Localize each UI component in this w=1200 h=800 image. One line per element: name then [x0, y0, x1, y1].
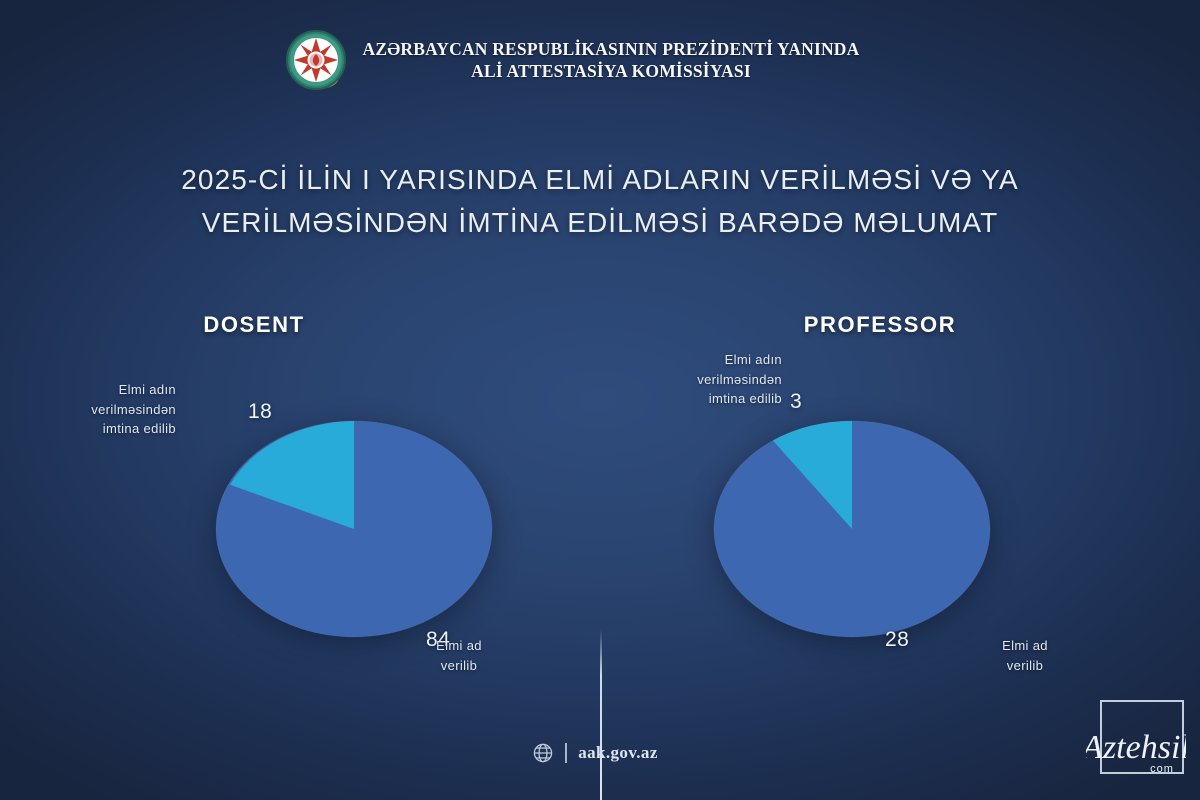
label-given-professor: Elmi ad verilib [970, 636, 1080, 675]
org-line-2: ALİ ATTESTASİYA KOMİSSİYASI [363, 60, 860, 82]
organization-header: AZƏRBAYCAN RESPUBLİKASININ PREZİDENTİ YA… [0, 0, 1200, 120]
pie-chart-professor [712, 418, 992, 640]
watermark-brand: Aztehsil [1086, 729, 1186, 766]
label-refused-line-2: verilməsindən [16, 400, 176, 420]
org-line-1: AZƏRBAYCAN RESPUBLİKASININ PREZİDENTİ YA… [363, 39, 860, 59]
page-title-line-2: VERİLMƏSİNDƏN İMTİNA EDİLMƏSİ BARƏDƏ MƏL… [0, 201, 1200, 244]
watermark-tld: com [1150, 763, 1174, 775]
label-refused-line-3: imtina edilib [622, 389, 782, 409]
charts-region: DOSENT Elmi adın verilməsindən imtina ed… [0, 296, 1200, 716]
footer-divider [565, 743, 567, 763]
website-url[interactable]: aak.gov.az [578, 743, 658, 763]
pie-chart-dosent [214, 418, 494, 640]
chart-title-professor: PROFESSOR [580, 312, 1180, 338]
globe-icon [532, 742, 554, 764]
infographic-canvas: AZƏRBAYCAN RESPUBLİKASININ PREZİDENTİ YA… [0, 0, 1200, 800]
label-refused-line-1: Elmi adın [16, 380, 176, 400]
label-given-line-2: verilib [404, 656, 514, 676]
value-given-professor: 28 [885, 628, 909, 652]
label-given-line-1: Elmi ad [970, 636, 1080, 656]
aztehsil-watermark: Aztehsil com [1086, 696, 1186, 782]
label-refused-line-2: verilməsindən [622, 370, 782, 390]
label-refused-dosent: Elmi adın verilməsindən imtina edilib [16, 380, 176, 439]
azerbaijan-state-emblem-icon [285, 23, 347, 97]
value-refused-professor: 3 [790, 390, 802, 414]
chart-panel-dosent: DOSENT Elmi adın verilməsindən imtina ed… [0, 296, 600, 716]
page-title: 2025-Cİ İLİN I YARISINDA ELMİ ADLARIN VE… [0, 158, 1200, 245]
chart-panel-professor: PROFESSOR Elmi adın verilməsindən imtina… [600, 296, 1200, 716]
label-refused-professor: Elmi adın verilməsindən imtina edilib [622, 350, 782, 409]
page-title-line-1: 2025-Cİ İLİN I YARISINDA ELMİ ADLARIN VE… [0, 158, 1200, 201]
organization-name: AZƏRBAYCAN RESPUBLİKASININ PREZİDENTİ YA… [363, 38, 860, 83]
panel-divider [600, 630, 602, 800]
label-given-line-1: Elmi ad [404, 636, 514, 656]
label-refused-line-1: Elmi adın [622, 350, 782, 370]
label-given-line-2: verilib [970, 656, 1080, 676]
footer-bar: aak.gov.az [0, 742, 1195, 764]
label-given-dosent: Elmi ad verilib [404, 636, 514, 675]
chart-title-dosent: DOSENT [0, 312, 554, 338]
label-refused-line-3: imtina edilib [16, 419, 176, 439]
